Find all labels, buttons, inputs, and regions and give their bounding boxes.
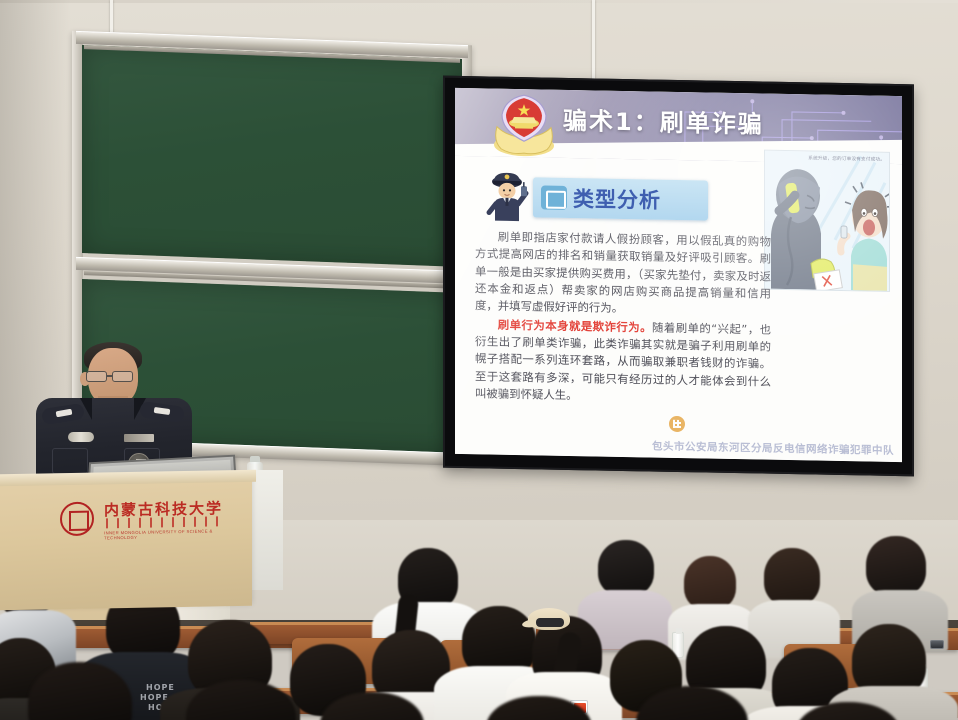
slide-paragraph-2: 刷单行为本身就是欺诈行为。随着刷单的“兴起”，也衍生出了刷单类诈骗，此类诈骗其实… — [475, 316, 771, 408]
university-name-mongolian — [106, 516, 224, 528]
slide-title: 骗术1：刷单诈骗 — [563, 101, 764, 140]
officer-glasses-icon — [86, 371, 138, 383]
officer-pocket-left — [52, 448, 88, 474]
university-name-en: INNER MONGOLIA UNIVERSITY OF SCIENCE & T… — [104, 528, 230, 540]
projection-screen: 骗术1：刷单诈骗 — [443, 76, 914, 477]
presentation-slide: 骗术1：刷单诈骗 — [455, 88, 902, 462]
slide-paragraph-1: 刷单即指店家付款请人假扮顾客，用以假乱真的购物方式提高网店的排名和销量获取销量及… — [475, 228, 771, 320]
university-logo: 内蒙古科技大学 INNER MONGOLIA UNIVERSITY OF SCI… — [60, 497, 230, 540]
chalkboard-panel-upper — [82, 45, 462, 267]
slide-body-text: 刷单即指店家付款请人假扮顾客，用以假乱真的购物方式提高网店的排名和销量获取销量及… — [475, 228, 771, 409]
audience-head — [764, 548, 820, 606]
screen-brand-logo — [485, 467, 525, 477]
fraud-phone-call-cartoon: 系统升级，您的订单没有支付成功。 — [764, 150, 890, 292]
projection-screen-surface: 骗术1：刷单诈骗 — [455, 88, 902, 462]
officer-name-tag — [124, 434, 154, 442]
slide-footer-text: 包头市公安局东河区分局反电信网络诈骗犯罪中队 — [652, 439, 894, 458]
china-police-emblem — [491, 93, 557, 162]
baseball-cap-band — [536, 618, 564, 627]
slide-page-marker — [669, 416, 685, 432]
cartoon-illustration — [765, 151, 890, 292]
officer-wing-badge-icon — [68, 432, 94, 442]
analysis-chart-icon — [541, 185, 567, 209]
slide-highlight-text: 刷单行为本身就是欺诈行为。 — [498, 317, 652, 334]
hope-shirt-text-line: HOPE — [146, 684, 175, 692]
type-analysis-label: 类型分析 — [573, 183, 661, 215]
speaker-podium: 内蒙古科技大学 INNER MONGOLIA UNIVERSITY OF SCI… — [0, 476, 252, 610]
cartoon-police-officer-icon — [485, 170, 529, 223]
audience-head — [598, 540, 654, 596]
smartphone[interactable] — [930, 640, 944, 649]
university-seal-icon — [60, 502, 94, 537]
type-analysis-banner: 类型分析 — [533, 177, 708, 220]
lecture-hall-scene: 骗术1：刷单诈骗 — [0, 0, 958, 720]
audience-head — [684, 556, 736, 610]
ceiling-edge — [0, 0, 958, 3]
audience-head — [866, 536, 926, 596]
